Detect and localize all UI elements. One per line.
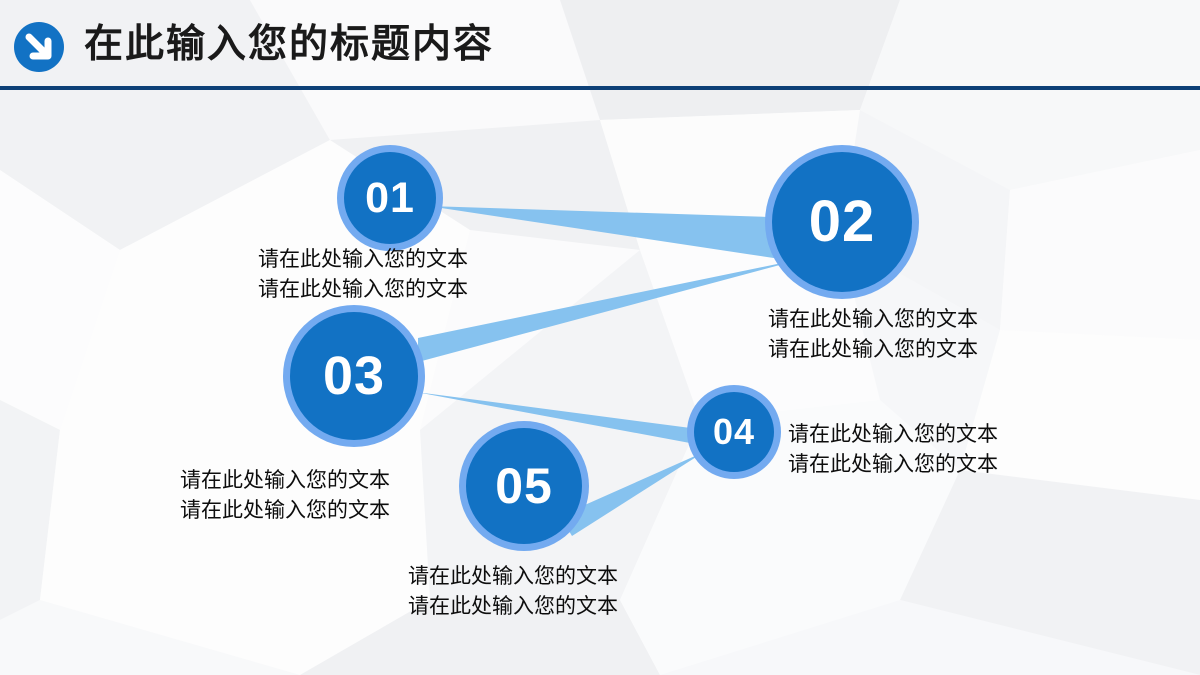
caption-block-05: 请在此处输入您的文本 请在此处输入您的文本 — [408, 562, 618, 622]
caption-line: 请在此处输入您的文本 — [180, 496, 390, 526]
caption-block-01: 请在此处输入您的文本 请在此处输入您的文本 — [258, 245, 468, 305]
page-title: 在此输入您的标题内容 — [84, 14, 494, 76]
slide-canvas: 在此输入您的标题内容 01 02 03 04 05 请在此处输入您的文本 请在此… — [0, 0, 1200, 675]
ribbon-03-to-04 — [416, 392, 706, 446]
caption-block-02: 请在此处输入您的文本 请在此处输入您的文本 — [768, 305, 978, 365]
process-node-03[interactable]: 03 — [290, 312, 418, 440]
caption-block-04: 请在此处输入您的文本 请在此处输入您的文本 — [788, 420, 998, 480]
header-divider — [0, 86, 1200, 90]
caption-line: 请在此处输入您的文本 — [768, 335, 978, 365]
process-node-02[interactable]: 02 — [772, 152, 912, 292]
caption-line: 请在此处输入您的文本 — [258, 245, 468, 275]
ribbon-02-to-03 — [418, 258, 806, 362]
node-number-02: 02 — [809, 193, 876, 251]
caption-line: 请在此处输入您的文本 — [258, 275, 468, 305]
process-node-05[interactable]: 05 — [466, 428, 582, 544]
node-number-03: 03 — [323, 349, 385, 403]
process-node-01[interactable]: 01 — [344, 152, 436, 244]
arrow-down-right-circle-icon — [12, 20, 66, 74]
caption-line: 请在此处输入您的文本 — [768, 305, 978, 335]
caption-block-03: 请在此处输入您的文本 请在此处输入您的文本 — [180, 466, 390, 526]
caption-line: 请在此处输入您的文本 — [408, 592, 618, 622]
caption-line: 请在此处输入您的文本 — [180, 466, 390, 496]
caption-line: 请在此处输入您的文本 — [408, 562, 618, 592]
node-number-05: 05 — [495, 461, 553, 511]
caption-line: 请在此处输入您的文本 — [788, 450, 998, 480]
node-number-01: 01 — [365, 177, 415, 220]
process-node-04[interactable]: 04 — [694, 392, 774, 472]
ribbon-01-to-02 — [428, 206, 800, 262]
node-number-04: 04 — [713, 414, 755, 450]
slide-header: 在此输入您的标题内容 — [0, 0, 1200, 88]
ribbon-04-to-05 — [560, 452, 704, 536]
caption-line: 请在此处输入您的文本 — [788, 420, 998, 450]
